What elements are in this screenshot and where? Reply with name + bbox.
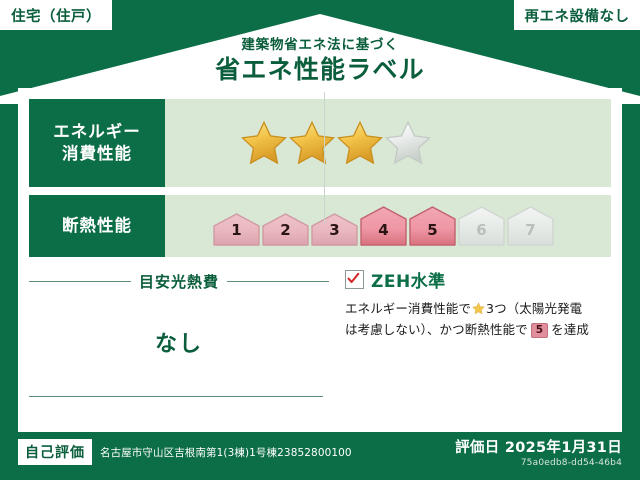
cost-rule-left xyxy=(29,281,131,282)
star-rating xyxy=(165,120,431,166)
footer-right-group: 評価日 2025年1月31日 75a0edb8-dd54-46b4 xyxy=(455,436,622,468)
footer: 自己評価 名古屋市守山区吉根南第1(3棟)1号棟23852800100 評価日 … xyxy=(18,434,622,470)
star-filled-icon xyxy=(241,120,287,166)
badge-building-type: 住宅（住戸） xyxy=(0,0,112,30)
cost-rule-right xyxy=(227,281,329,282)
utility-cost-underline xyxy=(29,396,323,397)
insulation-performance-row: 断熱性能 1234567 xyxy=(29,195,611,257)
utility-cost-heading-text: 目安光熱費 xyxy=(139,271,219,292)
zeh-checkbox[interactable] xyxy=(345,270,364,289)
zeh-desc-part1: エネルギー消費性能で xyxy=(345,301,471,316)
energy-label-line2: 消費性能 xyxy=(53,143,141,165)
insulation-performance-value: 1234567 xyxy=(165,195,611,257)
zeh-level-chip: 5 xyxy=(531,323,548,338)
star-filled-icon xyxy=(337,120,383,166)
energy-label-line1: エネルギー xyxy=(53,121,141,143)
zeh-desc-part3: を達成 xyxy=(551,322,589,337)
lower-section-divider xyxy=(324,92,325,224)
insulation-level-number: 2 xyxy=(262,221,309,239)
label-title-block: 建築物省エネ法に基づく 省エネ性能ラベル xyxy=(0,38,640,83)
lower-section: 目安光熱費 なし ZEH水準 エネルギー消費性能で3つ（太陽 xyxy=(29,267,611,419)
star-filled-icon xyxy=(289,120,335,166)
energy-performance-row: エネルギー 消費性能 xyxy=(29,99,611,187)
star-empty-icon xyxy=(385,120,431,166)
zeh-desc-stars: 3つ（太陽光発電 xyxy=(486,301,582,316)
insulation-level-number: 5 xyxy=(409,221,456,239)
insulation-label-text: 断熱性能 xyxy=(62,215,132,237)
energy-performance-value xyxy=(165,99,611,187)
energy-performance-label: 住宅（住戸） 再エネ設備なし 建築物省エネ法に基づく 省エネ性能ラベル エネルギ… xyxy=(0,0,640,480)
badge-renewable-energy: 再エネ設備なし xyxy=(514,0,640,30)
main-panel: エネルギー 消費性能 断熱性能 1234567 目安光熱費 xyxy=(18,88,622,432)
badge-building-type-label: 住宅（住戸） xyxy=(11,5,101,26)
evaluation-date: 評価日 2025年1月31日 xyxy=(455,436,622,457)
check-icon xyxy=(347,272,360,285)
insulation-level-number: 7 xyxy=(507,221,554,239)
zeh-description: エネルギー消費性能で3つ（太陽光発電は考慮しない）、かつ断熱性能で5を達成 xyxy=(345,299,611,340)
insulation-level-number: 4 xyxy=(360,221,407,239)
insulation-level-2: 2 xyxy=(262,213,309,246)
property-address: 名古屋市守山区吉根南第1(3棟)1号棟23852800100 xyxy=(100,445,352,460)
badge-renewable-energy-label: 再エネ設備なし xyxy=(525,5,630,26)
utility-cost-value: なし xyxy=(29,326,329,358)
insulation-level-5: 5 xyxy=(409,206,456,246)
insulation-level-6: 6 xyxy=(458,206,505,246)
insulation-level-4: 4 xyxy=(360,206,407,246)
insulation-level-7: 7 xyxy=(507,206,554,246)
zeh-desc-part2: は考慮しない）、かつ断熱性能で xyxy=(345,322,528,337)
insulation-level-number: 6 xyxy=(458,221,505,239)
page-title: 省エネ性能ラベル xyxy=(0,56,640,84)
zeh-title: ZEH水準 xyxy=(371,267,446,292)
title-subtitle: 建築物省エネ法に基づく xyxy=(0,38,640,53)
insulation-level-1: 1 xyxy=(213,213,260,246)
insulation-level-3: 3 xyxy=(311,213,358,246)
zeh-section: ZEH水準 エネルギー消費性能で3つ（太陽光発電は考慮しない）、かつ断熱性能で5… xyxy=(329,267,611,419)
insulation-level-number: 1 xyxy=(213,221,260,239)
insulation-level-scale: 1234567 xyxy=(165,206,554,246)
utility-cost-section: 目安光熱費 なし xyxy=(29,267,329,419)
self-evaluation-badge: 自己評価 xyxy=(18,439,92,465)
zeh-heading: ZEH水準 xyxy=(345,267,611,292)
evaluation-hash: 75a0edb8-dd54-46b4 xyxy=(455,458,622,468)
inline-star-icon xyxy=(472,301,485,320)
insulation-level-number: 3 xyxy=(311,221,358,239)
insulation-performance-label: 断熱性能 xyxy=(29,195,165,257)
utility-cost-heading: 目安光熱費 xyxy=(29,271,329,292)
energy-performance-label: エネルギー 消費性能 xyxy=(29,99,165,187)
